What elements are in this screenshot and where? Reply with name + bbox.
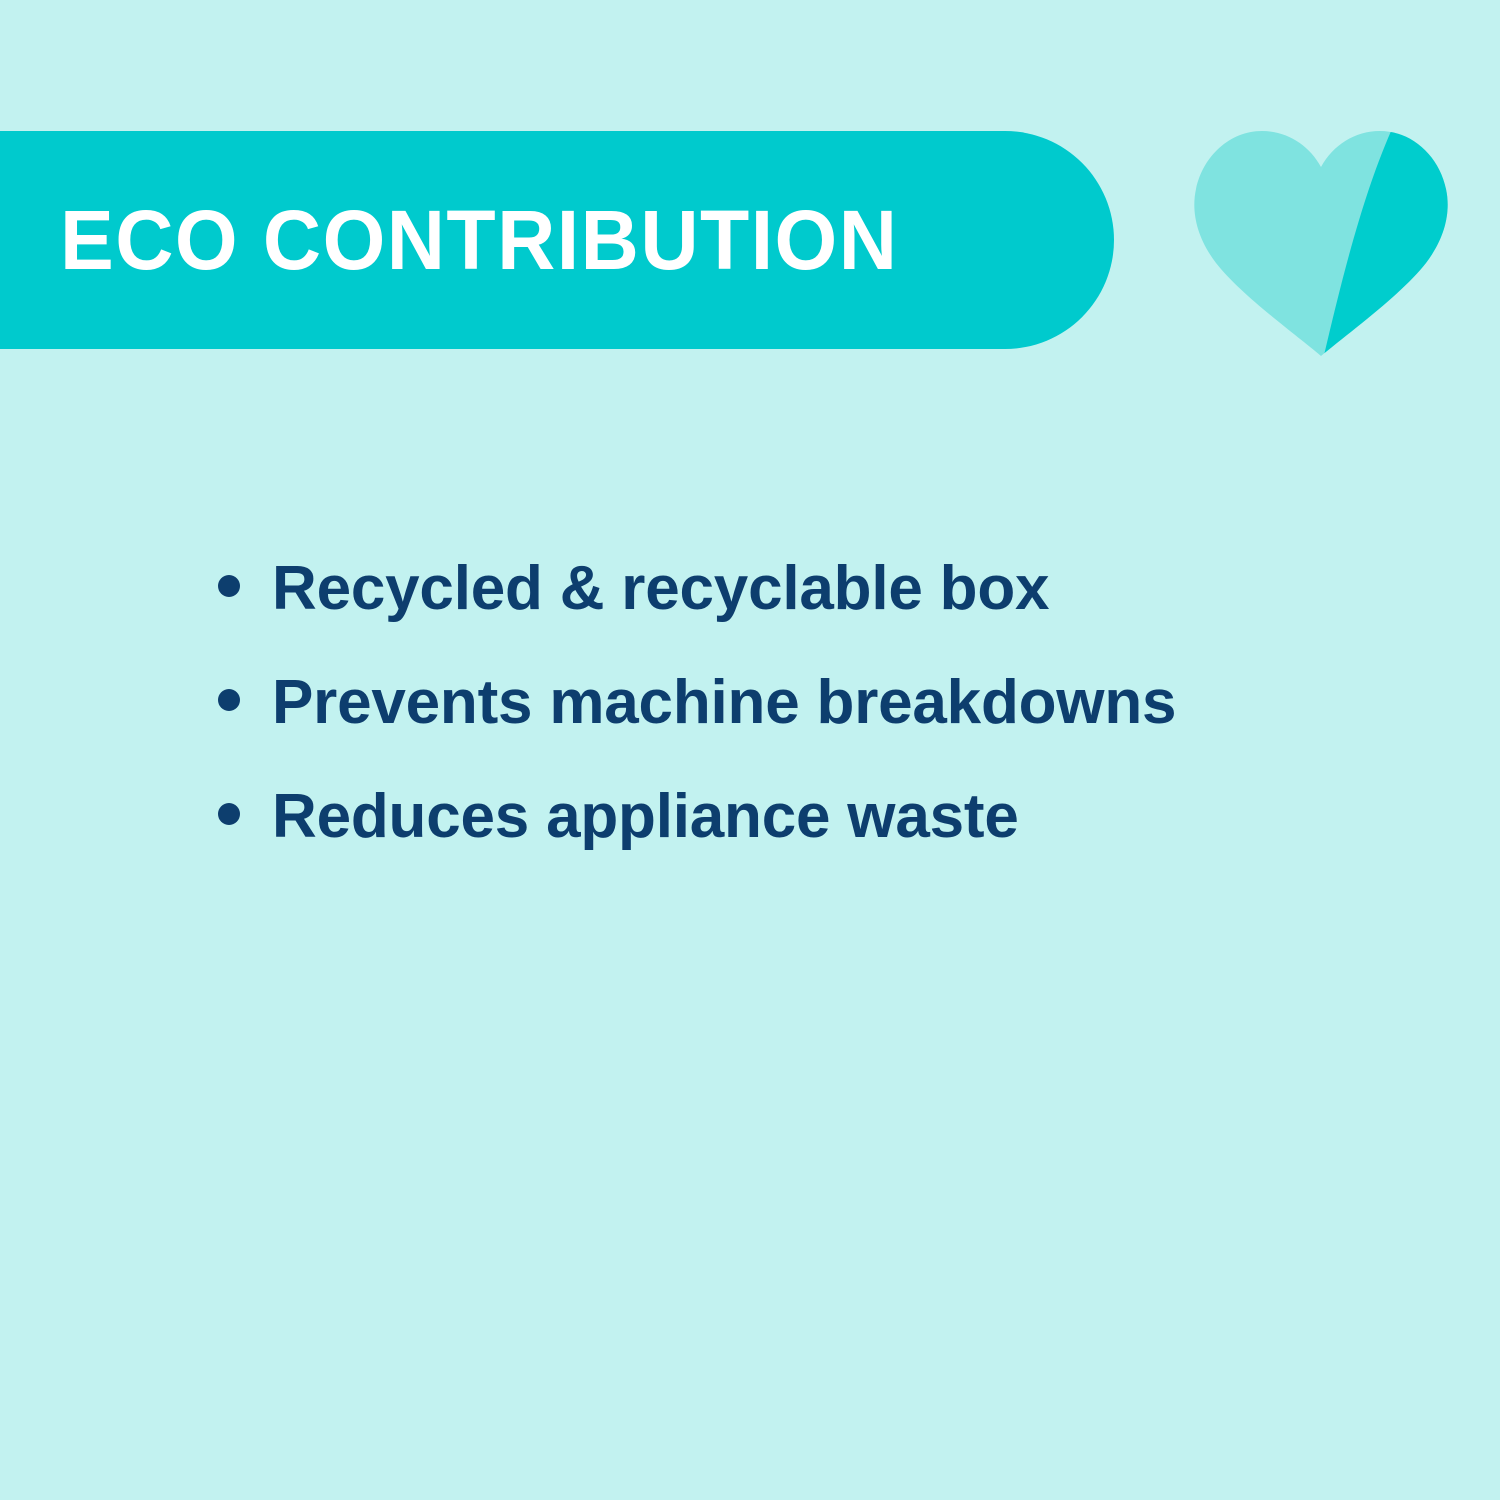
list-item: Prevents machine breakdowns bbox=[210, 659, 1330, 747]
header-band: ECO CONTRIBUTION bbox=[0, 131, 1114, 349]
eco-contribution-card: ECO CONTRIBUTION Recycled & recyclable b… bbox=[0, 0, 1500, 1500]
list-item-label: Prevents machine breakdowns bbox=[272, 659, 1272, 747]
benefits-list: Recycled & recyclable box Prevents machi… bbox=[210, 545, 1330, 861]
list-item: Recycled & recyclable box bbox=[210, 545, 1330, 633]
bullet-dot-icon bbox=[218, 689, 240, 711]
bullet-dot-icon bbox=[218, 803, 240, 825]
list-item-label: Reduces appliance waste bbox=[272, 773, 1272, 861]
list-item: Reduces appliance waste bbox=[210, 773, 1330, 861]
page-title: ECO CONTRIBUTION bbox=[60, 131, 898, 349]
list-item-label: Recycled & recyclable box bbox=[272, 545, 1272, 633]
heart-icon bbox=[1192, 128, 1450, 356]
bullet-dot-icon bbox=[218, 575, 240, 597]
